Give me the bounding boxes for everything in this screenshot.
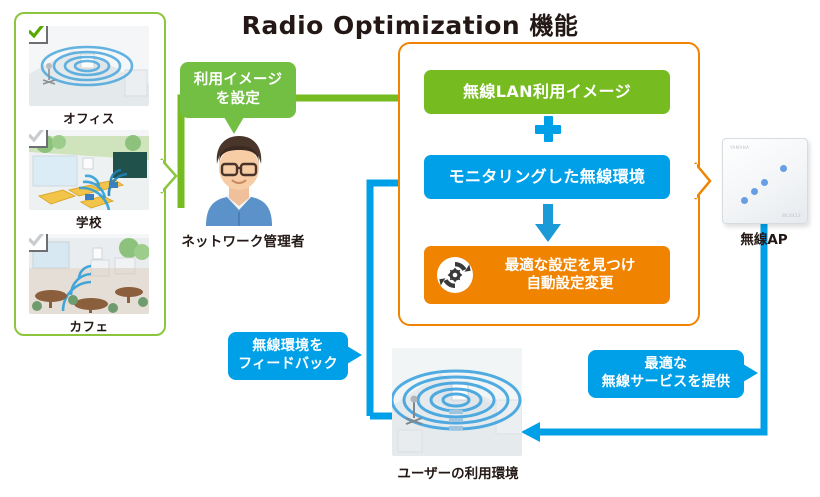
ap-led-2 <box>751 188 758 195</box>
scene-label-school: 学校 <box>29 212 149 231</box>
ap-led-3 <box>761 179 768 186</box>
scene-card-school[interactable]: 学校 <box>29 130 149 231</box>
checkbox-office[interactable] <box>29 26 48 44</box>
auto-config-line2: 自動設定変更 <box>482 275 658 293</box>
scene-card-cafe[interactable]: カフェ <box>29 234 149 335</box>
checkbox-cafe[interactable] <box>29 234 48 252</box>
page-title-main: Radio Optimization <box>242 11 530 40</box>
admin-label: ネットワーク管理者 <box>168 230 318 250</box>
bubble-service-line2: 無線サービスを提供 <box>602 374 731 392</box>
checkbox-school[interactable] <box>29 130 48 148</box>
scenes-panel-pointer-icon <box>160 158 178 194</box>
scene-label-cafe: カフェ <box>29 316 149 335</box>
auto-config-line1: 最適な設定を見つけ <box>482 257 658 275</box>
usage-scene-panel: オフィス <box>14 12 166 336</box>
auto-config-box[interactable]: 最適な設定を見つけ 自動設定変更 <box>424 246 670 304</box>
bubble-service-line1: 最適な <box>602 356 731 374</box>
office-scene-thumbnail <box>29 26 149 106</box>
bubble-set-usage-line2: を設定 <box>194 90 283 109</box>
cafe-scene-thumbnail <box>29 234 149 314</box>
bubble-feedback: 無線環境を フィードバック <box>228 332 348 380</box>
scene-card-office[interactable]: オフィス <box>29 26 149 127</box>
bubble-optimal-service-tail-icon <box>743 364 758 382</box>
ap-label: 無線AP <box>700 228 820 248</box>
admin-person-icon <box>196 132 282 226</box>
ap-brand-text: YAMAHA <box>730 145 749 150</box>
bubble-set-usage-line1: 利用イメージ <box>194 71 283 90</box>
gear-refresh-icon <box>436 256 474 294</box>
wireless-access-point-icon: YAMAHA WLX413 <box>722 138 808 224</box>
plus-icon <box>535 116 561 142</box>
monitored-environment-box[interactable]: モニタリングした無線環境 <box>424 155 670 199</box>
bubble-set-usage-image: 利用イメージ を設定 <box>180 62 296 118</box>
bubble-feedback-line1: 無線環境を <box>238 338 338 356</box>
ap-model-text: WLX413 <box>782 213 801 218</box>
bubble-feedback-line2: フィードバック <box>238 356 338 374</box>
school-scene-thumbnail <box>29 130 149 210</box>
bubble-optimal-service: 最適な 無線サービスを提供 <box>588 350 744 398</box>
ap-led-1 <box>741 197 748 204</box>
ap-led-4 <box>780 165 787 172</box>
page-title-suffix: 機能 <box>529 12 578 40</box>
office-wifi-scene-icon <box>392 348 522 456</box>
feature-panel-pointer-icon <box>694 162 712 200</box>
down-arrow-icon <box>532 204 564 242</box>
user-environment-label: ユーザーの利用環境 <box>382 462 534 482</box>
bubble-feedback-tail-icon <box>347 346 362 364</box>
scene-label-office: オフィス <box>29 108 149 127</box>
wireless-usage-image-box[interactable]: 無線LAN利用イメージ <box>424 70 670 114</box>
